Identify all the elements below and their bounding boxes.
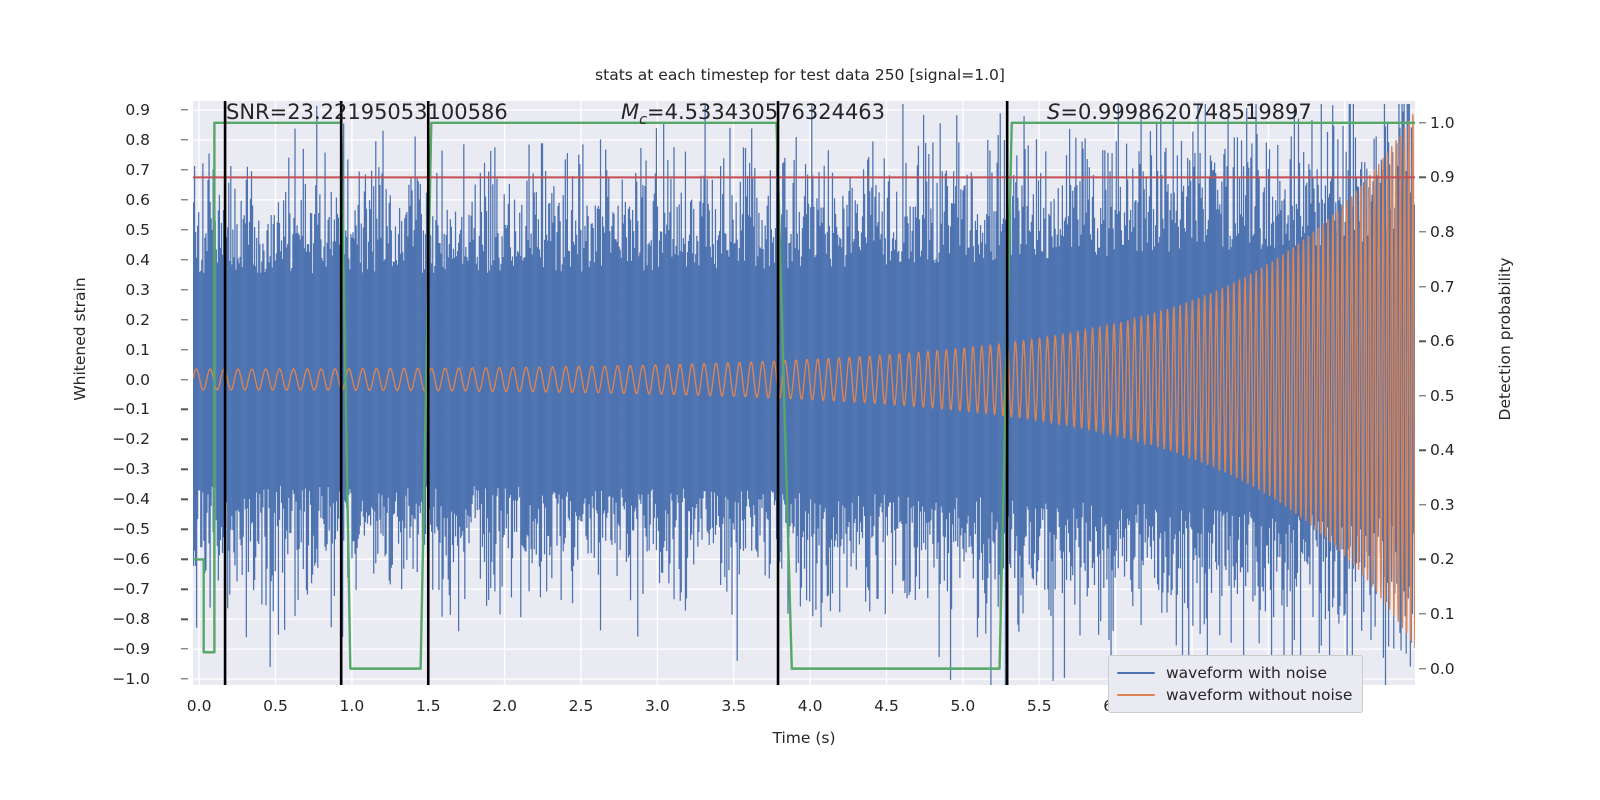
series-canvas bbox=[193, 101, 1415, 685]
series-waveform-with-noise bbox=[194, 104, 1415, 685]
x-tick-label: 2.0 bbox=[492, 697, 517, 715]
y-tick-mark-left bbox=[181, 229, 188, 230]
y-tick-label-left: −0.6 bbox=[0, 550, 150, 568]
y-tick-mark-right bbox=[1419, 177, 1426, 178]
y-tick-mark-left bbox=[181, 169, 188, 170]
y-tick-mark-left bbox=[181, 439, 188, 440]
y-tick-mark-left bbox=[181, 678, 188, 679]
x-tick-label: 3.0 bbox=[645, 697, 670, 715]
y-tick-mark-right bbox=[1419, 231, 1426, 232]
y-tick-mark-left bbox=[181, 349, 188, 350]
y-tick-mark-left bbox=[181, 379, 188, 380]
y-tick-label-right: 0.2 bbox=[1430, 550, 1510, 568]
y-tick-mark-right bbox=[1419, 668, 1426, 669]
y-tick-label-left: 0.9 bbox=[0, 101, 150, 119]
x-tick-label: 3.5 bbox=[721, 697, 746, 715]
s-label: S bbox=[1047, 100, 1060, 124]
y-tick-mark-left bbox=[181, 559, 188, 560]
y-tick-mark-left bbox=[181, 139, 188, 140]
mc-equals: = bbox=[647, 100, 665, 124]
y-tick-label-left: −0.8 bbox=[0, 610, 150, 628]
snr-value: 23.22195053100586 bbox=[287, 100, 507, 124]
plot-area bbox=[193, 101, 1415, 685]
annotation-chirp-mass: Mc=4.533430576324463 bbox=[621, 100, 885, 128]
legend-label: waveform without noise bbox=[1166, 686, 1352, 704]
y-tick-label-left: −0.7 bbox=[0, 580, 150, 598]
chart-title: stats at each timestep for test data 250… bbox=[0, 66, 1600, 84]
legend-item[interactable]: waveform with noise bbox=[1117, 662, 1352, 684]
legend-label: waveform with noise bbox=[1166, 664, 1327, 682]
legend-item[interactable]: waveform without noise bbox=[1117, 684, 1352, 706]
mc-value: 4.533430576324463 bbox=[665, 100, 885, 124]
y-tick-mark-left bbox=[181, 529, 188, 530]
figure-canvas: stats at each timestep for test data 250… bbox=[0, 0, 1600, 800]
legend-color-swatch bbox=[1117, 694, 1155, 697]
y-tick-label-right: 0.0 bbox=[1430, 660, 1510, 678]
y-tick-mark-left bbox=[181, 409, 188, 410]
mc-subscript: c bbox=[639, 112, 647, 128]
y-tick-mark-left bbox=[181, 618, 188, 619]
y-tick-label-right: 0.9 bbox=[1430, 168, 1510, 186]
mc-label: M bbox=[621, 100, 639, 124]
annotation-snr: SNR=23.22195053100586 bbox=[226, 100, 508, 124]
s-equals: = bbox=[1060, 100, 1078, 124]
y-tick-mark-right bbox=[1419, 122, 1426, 123]
y-tick-label-left: −0.5 bbox=[0, 520, 150, 538]
y-tick-label-left: −1.0 bbox=[0, 670, 150, 688]
y-tick-mark-right bbox=[1419, 504, 1426, 505]
x-tick-label: 1.5 bbox=[416, 697, 441, 715]
y-tick-mark-right bbox=[1419, 559, 1426, 560]
y-tick-label-left: −0.9 bbox=[0, 640, 150, 658]
s-value: 0.9998620748519897 bbox=[1078, 100, 1312, 124]
legend: waveform with noisewaveform without nois… bbox=[1108, 655, 1363, 713]
y-tick-label-left: −0.4 bbox=[0, 490, 150, 508]
y-axis-right-label: Detection probability bbox=[1496, 189, 1514, 489]
y-tick-label-left: 0.7 bbox=[0, 161, 150, 179]
x-tick-label: 4.5 bbox=[874, 697, 899, 715]
x-axis-label: Time (s) bbox=[193, 729, 1415, 747]
x-tick-label: 2.5 bbox=[569, 697, 594, 715]
y-tick-label-right: 1.0 bbox=[1430, 114, 1510, 132]
y-tick-label-left: 0.8 bbox=[0, 131, 150, 149]
y-tick-mark-left bbox=[181, 499, 188, 500]
y-tick-mark-right bbox=[1419, 340, 1426, 341]
y-tick-label-right: 0.3 bbox=[1430, 496, 1510, 514]
y-tick-mark-right bbox=[1419, 613, 1426, 614]
annotation-significance: S=0.9998620748519897 bbox=[1047, 100, 1312, 124]
x-tick-label: 5.0 bbox=[951, 697, 976, 715]
snr-label: SNR= bbox=[226, 100, 287, 124]
y-tick-mark-left bbox=[181, 289, 188, 290]
y-tick-mark-left bbox=[181, 648, 188, 649]
x-tick-label: 0.0 bbox=[187, 697, 212, 715]
y-tick-label-right: 0.1 bbox=[1430, 605, 1510, 623]
y-axis-left-label: Whitened strain bbox=[71, 189, 89, 489]
x-tick-label: 4.0 bbox=[798, 697, 823, 715]
y-tick-mark-left bbox=[181, 469, 188, 470]
legend-color-swatch bbox=[1117, 672, 1155, 675]
x-tick-label: 5.5 bbox=[1027, 697, 1052, 715]
y-tick-mark-right bbox=[1419, 395, 1426, 396]
x-tick-label: 0.5 bbox=[263, 697, 288, 715]
y-tick-mark-left bbox=[181, 109, 188, 110]
y-tick-mark-right bbox=[1419, 286, 1426, 287]
y-tick-mark-left bbox=[181, 259, 188, 260]
x-tick-label: 1.0 bbox=[340, 697, 365, 715]
y-tick-mark-left bbox=[181, 199, 188, 200]
y-tick-mark-left bbox=[181, 319, 188, 320]
y-tick-mark-right bbox=[1419, 450, 1426, 451]
y-tick-mark-left bbox=[181, 588, 188, 589]
